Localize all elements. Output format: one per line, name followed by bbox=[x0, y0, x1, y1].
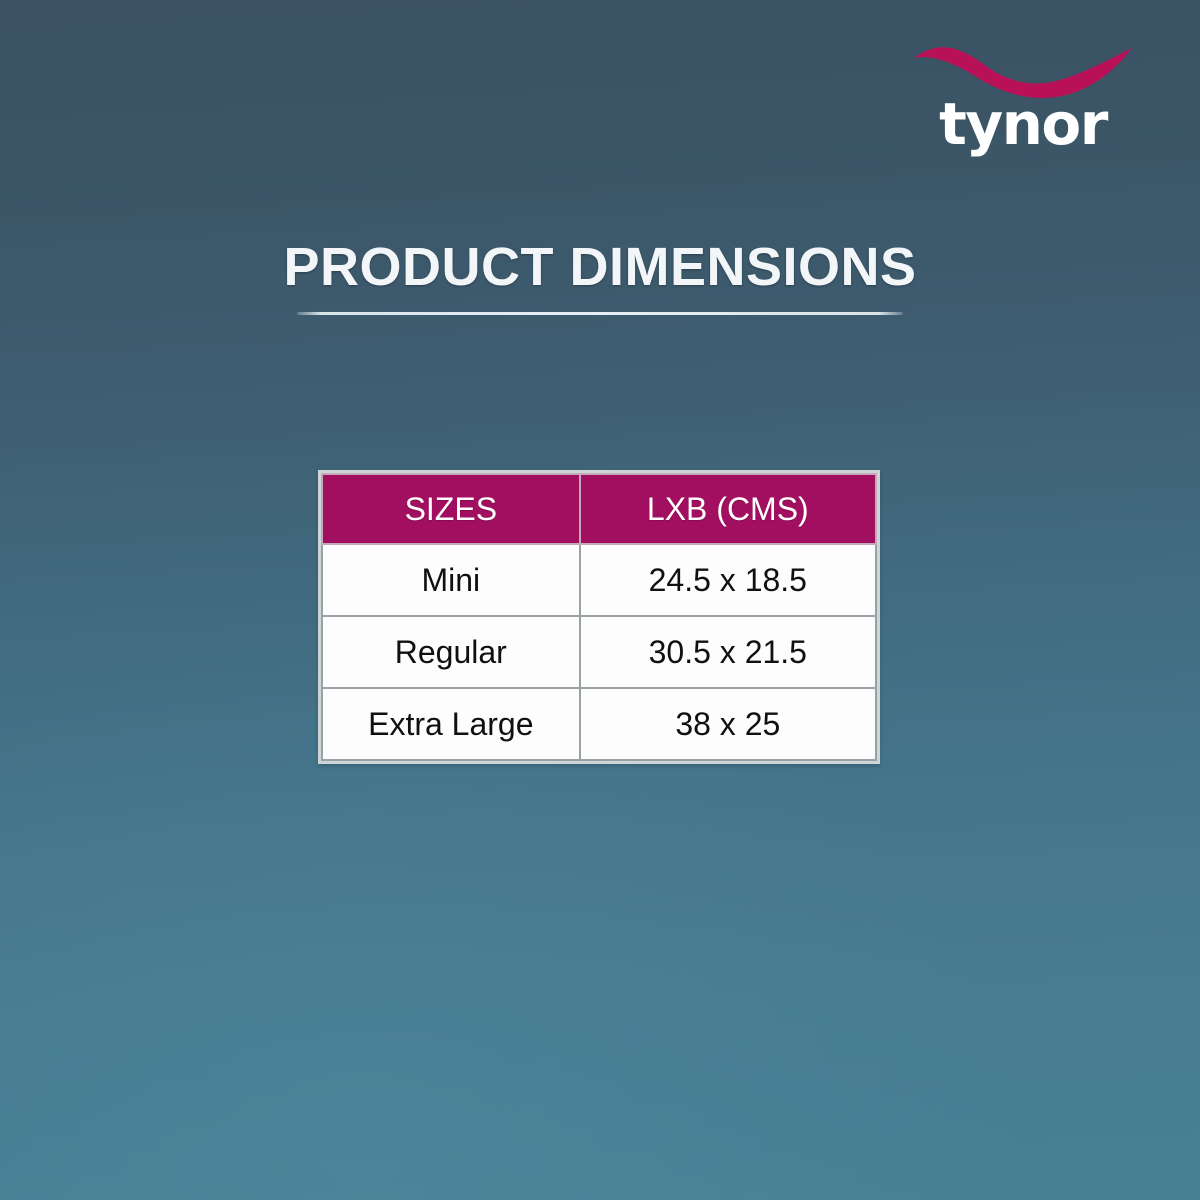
cell-lxb: 38 x 25 bbox=[580, 688, 876, 760]
table-row: Mini 24.5 x 18.5 bbox=[322, 544, 876, 616]
brand-wordmark: tynor bbox=[908, 92, 1138, 156]
column-header-lxb: LXB (CMS) bbox=[580, 474, 876, 544]
page-title: PRODUCT DIMENSIONS bbox=[0, 236, 1200, 298]
product-dimensions-page: tynor PRODUCT DIMENSIONS SIZES LXB (CMS)… bbox=[0, 0, 1200, 1200]
table-row: Regular 30.5 x 21.5 bbox=[322, 616, 876, 688]
product-dimensions-table-wrapper: SIZES LXB (CMS) Mini 24.5 x 18.5 Regular… bbox=[318, 470, 880, 764]
column-header-sizes: SIZES bbox=[322, 474, 580, 544]
cell-lxb: 30.5 x 21.5 bbox=[580, 616, 876, 688]
cell-size: Extra Large bbox=[322, 688, 580, 760]
brand-logo: tynor bbox=[908, 40, 1138, 165]
cell-size: Mini bbox=[322, 544, 580, 616]
title-underline bbox=[297, 312, 903, 315]
table-header-row: SIZES LXB (CMS) bbox=[322, 474, 876, 544]
product-dimensions-table: SIZES LXB (CMS) Mini 24.5 x 18.5 Regular… bbox=[321, 473, 877, 761]
page-title-block: PRODUCT DIMENSIONS bbox=[0, 236, 1200, 315]
cell-lxb: 24.5 x 18.5 bbox=[580, 544, 876, 616]
cell-size: Regular bbox=[322, 616, 580, 688]
table-row: Extra Large 38 x 25 bbox=[322, 688, 876, 760]
